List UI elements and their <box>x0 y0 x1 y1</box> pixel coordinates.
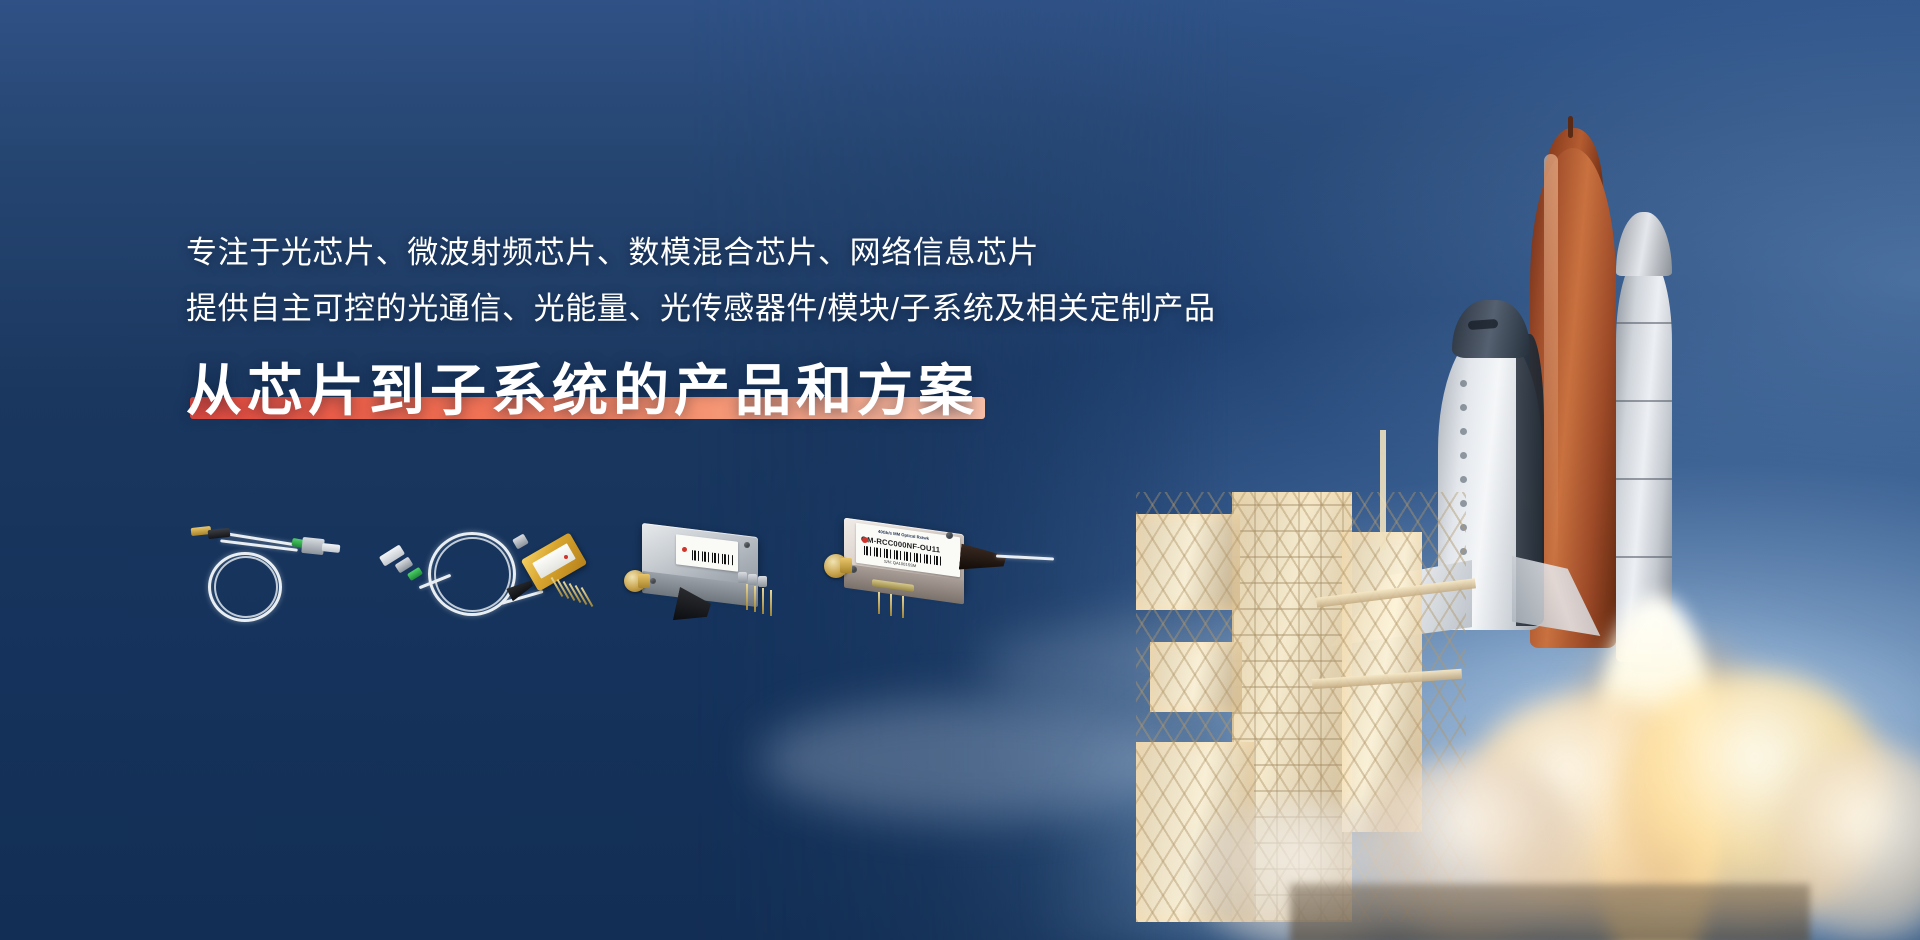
orbiter-nose-icon <box>1452 300 1530 358</box>
product-rf-metal-module[interactable] <box>622 526 812 630</box>
product-butterfly-laser-module[interactable] <box>368 522 608 632</box>
hero-headline: 从芯片到子系统的产品和方案 <box>186 360 979 423</box>
launch-pad-base <box>1290 884 1810 940</box>
product-showcase-strip: 40Gb/s MM Optical Rxtwk OM-RCC000NF-OU11… <box>186 520 1016 630</box>
hero-copy: 专注于光芯片、微波射频芯片、数模混合芯片、网络信息芯片 提供自主可控的光通信、光… <box>186 228 1306 423</box>
space-shuttle-launch-scene <box>1060 0 1920 940</box>
external-tank-tip-icon <box>1568 116 1573 138</box>
product-fiber-pigtail-coil[interactable] <box>186 520 376 630</box>
product-optical-receiver-module[interactable]: 40Gb/s MM Optical Rxtwk OM-RCC000NF-OU11… <box>820 520 1050 630</box>
hero-subheading-2: 提供自主可控的光通信、光能量、光传感器件/模块/子系统及相关定制产品 <box>186 284 1306 334</box>
hero-headline-wrap: 从芯片到子系统的产品和方案 <box>186 360 979 423</box>
hero-banner: 专注于光芯片、微波射频芯片、数模混合芯片、网络信息芯片 提供自主可控的光通信、光… <box>0 0 1920 940</box>
hero-subheading-1: 专注于光芯片、微波射频芯片、数模混合芯片、网络信息芯片 <box>186 228 1306 278</box>
